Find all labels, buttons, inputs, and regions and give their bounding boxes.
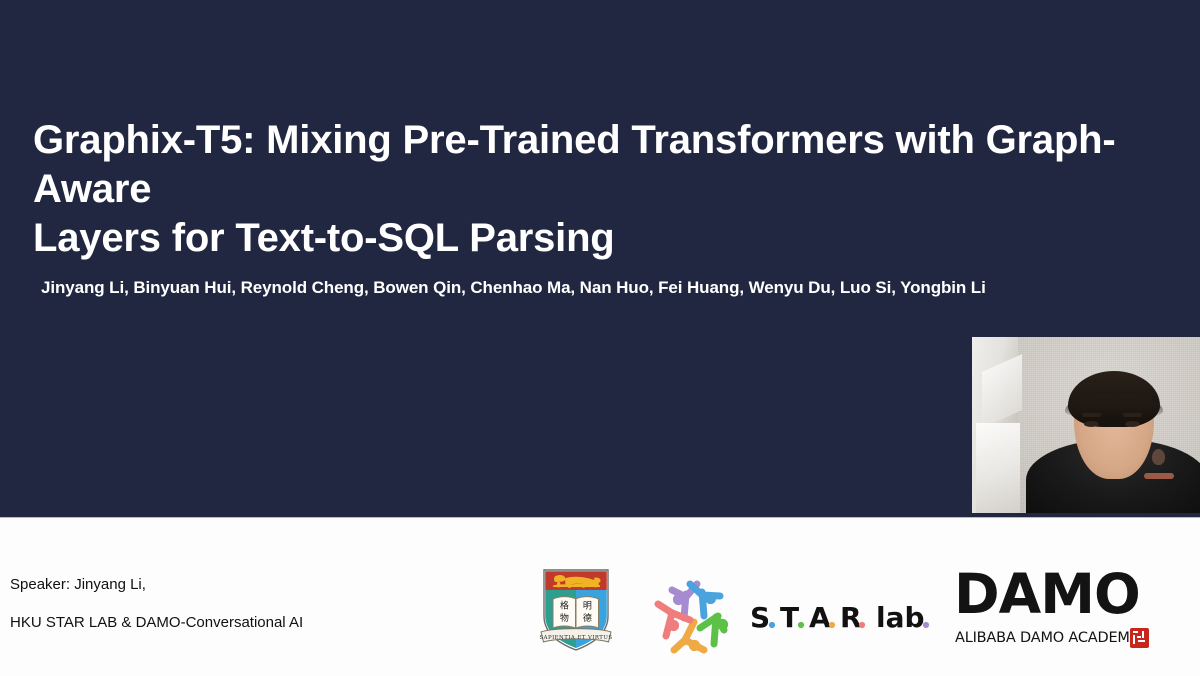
speaker-eye-right [1125, 421, 1140, 427]
star-lab-figure-icon [652, 572, 744, 658]
speaker-eye-left [1084, 421, 1099, 427]
star-lab-wordmark: S T A R lab [750, 598, 940, 638]
svg-text:物: 物 [560, 612, 569, 624]
speaker-eyebrow-left [1082, 413, 1101, 417]
damo-subtitle: ALIBABA DAMO ACADEMY [955, 630, 1138, 646]
svg-text:明: 明 [583, 601, 592, 612]
slide-canvas: Graphix-T5: Mixing Pre-Trained Transform… [0, 0, 1200, 517]
speaker-eyebrow-right [1123, 413, 1142, 417]
footer-affiliation-line: HKU STAR LAB & DAMO-Conversational AI [10, 604, 303, 642]
video-background-doorframe [972, 337, 1018, 513]
svg-text:A: A [809, 601, 831, 634]
svg-text:S: S [750, 601, 771, 634]
footer-speaker-line: Speaker: Jinyang Li, [10, 566, 303, 604]
svg-text:R: R [840, 601, 862, 634]
svg-text:T: T [780, 601, 799, 634]
speaker-nose [1152, 449, 1165, 465]
presentation-slide: Graphix-T5: Mixing Pre-Trained Transform… [0, 0, 1200, 675]
speaker-webcam-video[interactable] [972, 337, 1200, 513]
speaker-mouth [1144, 473, 1174, 479]
damo-seal-icon [1130, 628, 1149, 648]
speaker-hair [1068, 371, 1160, 427]
page-title: Graphix-T5: Mixing Pre-Trained Transform… [33, 116, 1173, 263]
damo-logo: DAMO ALIBABA DAMO ACADEMY [954, 564, 1154, 660]
svg-text:德: 德 [583, 612, 592, 624]
slide-footer: Speaker: Jinyang Li, HKU STAR LAB & DAMO… [0, 517, 1200, 676]
footer-speaker-info: Speaker: Jinyang Li, HKU STAR LAB & DAMO… [10, 566, 303, 642]
svg-text:格: 格 [560, 600, 569, 612]
svg-text:lab: lab [876, 601, 925, 634]
svg-text:SAPIENTIA ET VIRTUS: SAPIENTIA ET VIRTUS [540, 635, 613, 641]
damo-wordmark: DAMO [954, 564, 1150, 624]
hku-crest-icon: 格 物 明 德 SAPIENTIA ET VIRTUS [538, 566, 614, 654]
author-list: Jinyang Li, Binyuan Hui, Reynold Cheng, … [41, 277, 1161, 299]
speaker-figure [1030, 363, 1200, 513]
